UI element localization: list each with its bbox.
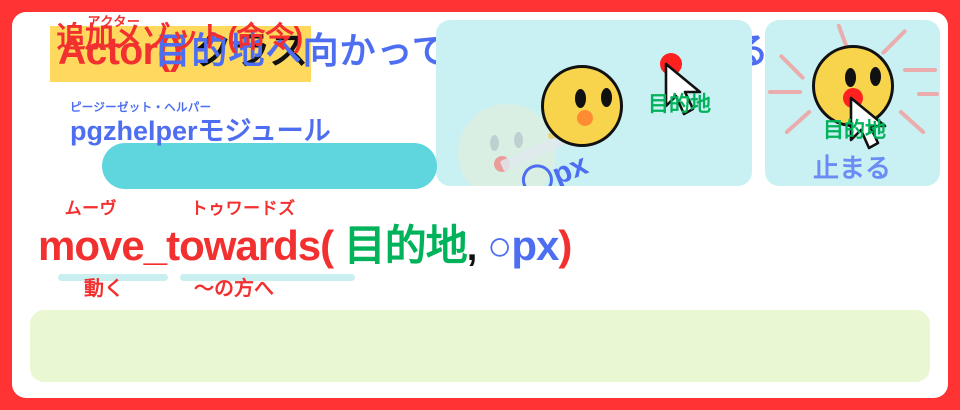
method-signature: ムーヴ move _ トゥワードズ towards ( 目的地, ○px) <box>38 222 571 272</box>
destination-label: 目的地 <box>648 88 711 118</box>
ghost-eye-left <box>490 135 499 151</box>
added-method-pill <box>102 143 437 189</box>
move-token: move <box>38 222 144 269</box>
move-ruby-text: ムーヴ <box>65 200 118 218</box>
destination-label-arrived: 目的地 <box>823 114 886 144</box>
impact-ray-4 <box>903 68 937 72</box>
impact-ray-1 <box>779 54 806 81</box>
actor-eye-right <box>601 88 612 107</box>
added-method-label: 追加メゾット(命令) <box>12 12 347 58</box>
actor-eye-left <box>575 89 586 108</box>
arg-comma: , <box>467 227 477 269</box>
towards-ruby-wrap: トゥワードズ towards <box>166 222 320 270</box>
pgzhelper-module-line: ピージーゼット・ヘルパー pgzhelperモジュール <box>70 116 331 146</box>
impact-ray-7 <box>898 109 926 135</box>
ghost-eye-right <box>514 132 523 148</box>
illustration-panel-stop: 目的地 止まる <box>765 20 940 186</box>
arg-destination: 目的地 <box>344 222 467 269</box>
actor-eye-left-arrived <box>845 68 856 87</box>
impact-ray-3 <box>881 29 908 56</box>
paren-close: ) <box>558 222 571 269</box>
towards-token: towards <box>166 222 320 269</box>
actor-nose <box>577 110 593 126</box>
impact-ray-8 <box>917 92 939 96</box>
towards-ruby-text: トゥワードズ <box>191 200 296 218</box>
summary-banner <box>30 310 930 382</box>
impact-ray-5 <box>768 90 802 94</box>
content-frame: アクター Actor( )クラス ピージーゼット・ヘルパー pgzhelperモ… <box>12 12 948 398</box>
move-translation: 動く <box>84 278 124 300</box>
towards-translation: 〜の方へ <box>194 278 274 300</box>
impact-ray-6 <box>784 109 812 135</box>
actor-eye-right-arrived <box>870 67 881 86</box>
stop-label: 止まる <box>813 148 891 185</box>
move-ruby-wrap: ムーヴ move <box>38 222 144 270</box>
illustration-panel-move: ➜ px 目的地 <box>436 20 752 186</box>
pgzhelper-module-text: pgzhelperモジュール <box>70 116 331 146</box>
arg-px-unit: px <box>511 222 558 269</box>
arg-circle: ○ <box>487 222 511 269</box>
pgzhelper-ruby-text: ピージーゼット・ヘルパー <box>70 102 211 114</box>
underscore-token: _ <box>144 222 166 269</box>
paren-open: ( <box>320 222 333 269</box>
